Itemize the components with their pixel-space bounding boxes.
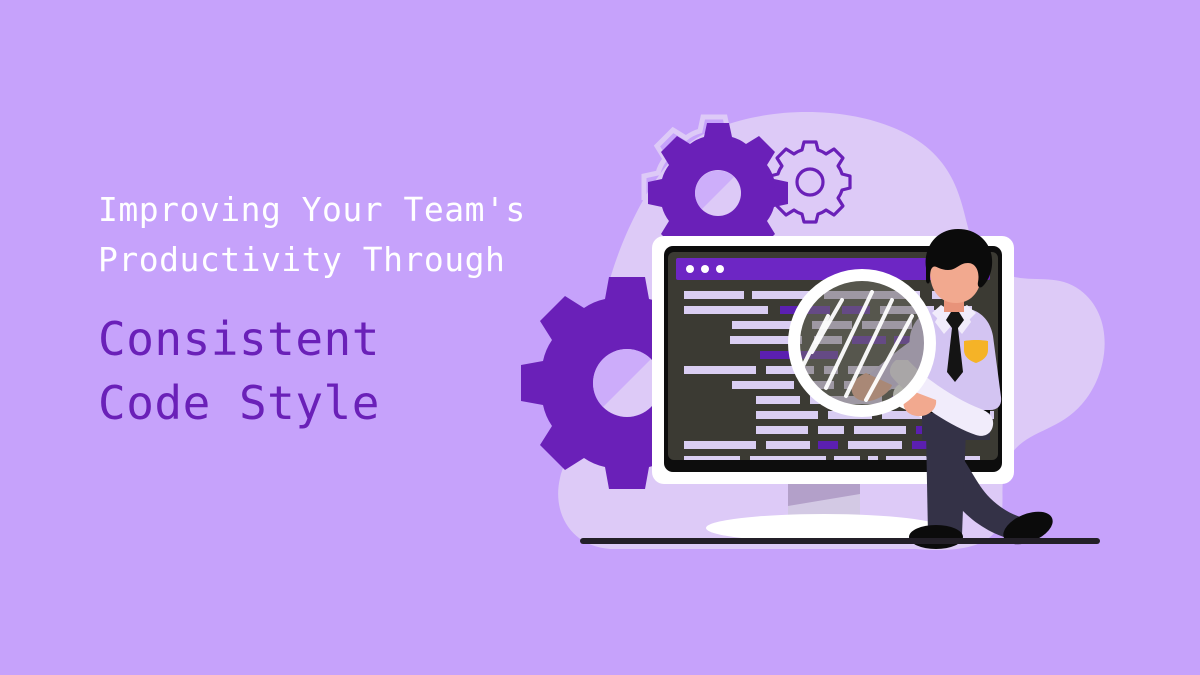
subtitle: Improving Your Team's Productivity Throu… xyxy=(98,185,618,285)
floor-line xyxy=(580,538,1100,544)
leg-standing xyxy=(926,430,966,535)
magnifying-glass xyxy=(794,275,930,411)
monitor-stand-base xyxy=(706,514,942,542)
titlebar-dot xyxy=(686,265,694,273)
titlebar-dot xyxy=(716,265,724,273)
promo-banner: Improving Your Team's Productivity Throu… xyxy=(0,0,1200,675)
copy-block: Improving Your Team's Productivity Throu… xyxy=(98,185,618,435)
titlebar-dot xyxy=(701,265,709,273)
page-title: Consistent Code Style xyxy=(98,307,618,435)
shoe-standing xyxy=(909,525,963,549)
